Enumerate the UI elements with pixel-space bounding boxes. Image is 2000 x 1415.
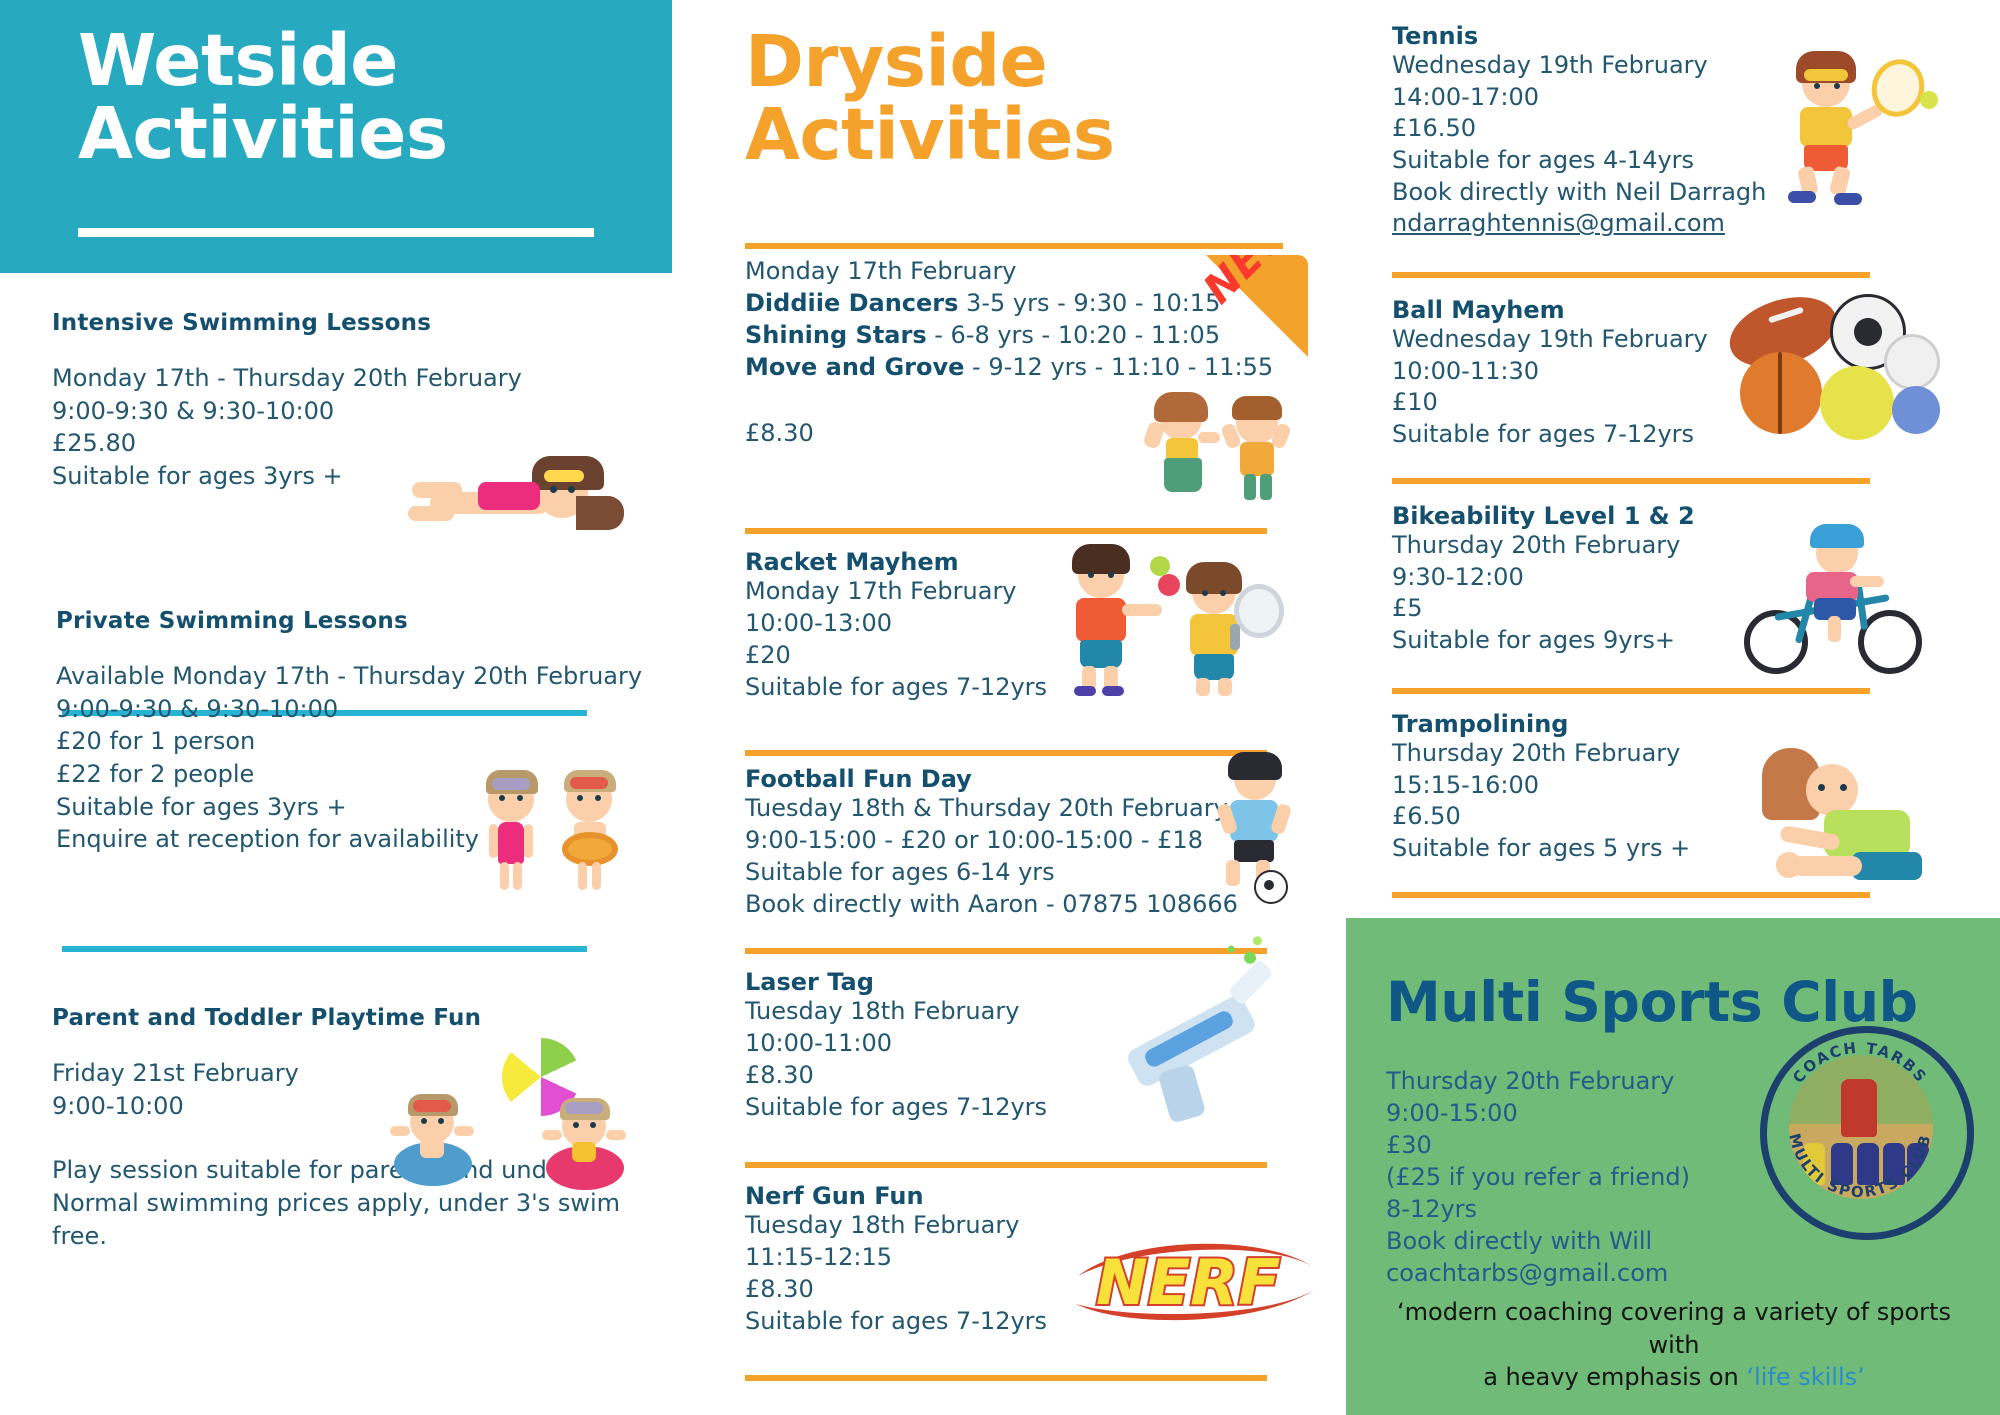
dance-class-name: Move and Grove (745, 353, 964, 381)
badge-top-text: COACH TARBS (1789, 1039, 1931, 1087)
wetside-title-line2: Activities (78, 92, 448, 175)
multi-sports-club-panel: Multi Sports Club Thursday 20th February… (1346, 918, 2000, 1415)
divider-orange-mid-5 (745, 1375, 1267, 1381)
block-line: Wednesday 19th February (1392, 324, 1772, 356)
wetside-header: Wetside Activities (0, 0, 672, 273)
block-line: Thursday 20th February (1392, 530, 1772, 562)
wetside-title: Wetside Activities (78, 24, 448, 170)
multi-sports-quote: ‘modern coaching covering a variety of s… (1374, 1296, 1974, 1394)
divider-orange-right-2 (1392, 478, 1870, 484)
block-line: Thursday 20th February (1392, 738, 1772, 770)
coach-tarbs-badge-icon: COACH TARBS MULTI SPORTS CLUB (1760, 1026, 1974, 1240)
block-title: Intensive Swimming Lessons (52, 310, 672, 336)
multi-sports-line: 9:00-15:00 (1386, 1098, 1518, 1129)
block-tennis: Tennis Wednesday 19th February 14:00-17:… (1392, 22, 1772, 240)
trampolining-child-icon (1752, 748, 1952, 898)
block-line: £16.50 (1392, 113, 1772, 145)
toddlers-beachball-icon (410, 1038, 650, 1198)
nerf-logo-text: NERF (1096, 1246, 1280, 1319)
block-line: 9:00-9:30 & 9:30-10:00 (52, 395, 672, 428)
dryside-title: Dryside Activities (745, 25, 1305, 171)
block-title: Tennis (1392, 22, 1772, 50)
activities-poster: Wetside Activities Intensive Swimming Le… (0, 0, 2000, 1415)
divider-teal-2 (62, 946, 587, 952)
block-title: Ball Mayhem (1392, 296, 1772, 324)
dryside-title-underline (745, 243, 1283, 249)
tennis-email-link[interactable]: ndarraghtennis@gmail.com (1392, 208, 1772, 240)
block-trampolining: Trampolining Thursday 20th February 15:1… (1392, 710, 1772, 865)
block-line: 9:00-9:30 & 9:30-10:00 (56, 693, 676, 726)
block-line: £20 for 1 person (56, 725, 676, 758)
divider-orange-mid-3 (745, 948, 1267, 954)
block-line: 14:00-17:00 (1392, 82, 1772, 114)
cyclist-icon (1742, 530, 1952, 680)
footballer-icon (1200, 752, 1330, 902)
block-line: Suitable for ages 5 yrs + (1392, 833, 1772, 865)
multi-sports-email[interactable]: coachtarbs@gmail.com (1386, 1258, 1668, 1289)
block-line: £6.50 (1392, 801, 1772, 833)
multi-sports-line: (£25 if you refer a friend) (1386, 1162, 1690, 1193)
racket-children-icon (1058, 548, 1308, 698)
dancing-children-icon (1140, 392, 1300, 502)
block-line: £10 (1392, 387, 1772, 419)
divider-orange-right-1 (1392, 272, 1870, 278)
two-children-icon (484, 762, 644, 892)
dryside-header: Dryside Activities (745, 25, 1305, 171)
block-line: Book directly with Neil Darragh (1392, 177, 1772, 209)
block-line: Monday 17th - Thursday 20th February (52, 362, 672, 395)
block-bikeability: Bikeability Level 1 & 2 Thursday 20th Fe… (1392, 502, 1772, 657)
coach-tarbs-badge-text: COACH TARBS MULTI SPORTS CLUB (1767, 1033, 1953, 1219)
block-note-line: free. (52, 1220, 672, 1253)
block-line: 9:30-12:00 (1392, 562, 1772, 594)
divider-orange-mid-4 (745, 1162, 1267, 1168)
divider-orange-right-4 (1392, 892, 1870, 898)
block-line: 15:15-16:00 (1392, 770, 1772, 802)
dryside-title-line2: Activities (745, 93, 1115, 176)
block-line: £5 (1392, 593, 1772, 625)
block-line: Suitable for ages 7-12yrs (1392, 419, 1772, 451)
wetside-title-line1: Wetside (78, 19, 398, 102)
new-badge: NEW (1168, 255, 1308, 395)
wetside-title-underline (78, 228, 594, 237)
dance-class-name: Shining Stars (745, 321, 927, 349)
quote-line1: ‘modern coaching covering a variety of s… (1397, 1298, 1951, 1359)
divider-orange-mid-1 (745, 528, 1267, 534)
multi-sports-title: Multi Sports Club (1386, 970, 1918, 1034)
tennis-player-icon (1760, 55, 1950, 215)
quote-line2-pre: a heavy emphasis on (1483, 1363, 1746, 1391)
sports-balls-icon (1720, 290, 1950, 450)
block-title: Trampolining (1392, 710, 1772, 738)
multi-sports-line: Thursday 20th February (1386, 1066, 1674, 1097)
block-line: Available Monday 17th - Thursday 20th Fe… (56, 660, 676, 693)
multi-sports-line: Book directly with Will (1386, 1226, 1652, 1257)
block-line: Suitable for ages 4-14yrs (1392, 145, 1772, 177)
badge-bottom-text: MULTI SPORTS CLUB (1785, 1132, 1934, 1202)
block-title: Parent and Toddler Playtime Fun (52, 1005, 672, 1031)
block-title: Nerf Gun Fun (745, 1182, 1265, 1210)
divider-orange-right-3 (1392, 688, 1870, 694)
dance-class-name: Diddiie Dancers (745, 289, 958, 317)
block-title: Bikeability Level 1 & 2 (1392, 502, 1772, 530)
nerf-logo-icon: NERF (1070, 1218, 1320, 1328)
divider-orange-mid-2 (745, 750, 1267, 756)
multi-sports-line: 8-12yrs (1386, 1194, 1477, 1225)
block-line: Wednesday 19th February (1392, 50, 1772, 82)
block-line: Suitable for ages 9yrs+ (1392, 625, 1772, 657)
quote-life-skills: ‘life skills’ (1746, 1363, 1864, 1391)
dryside-title-line1: Dryside (745, 20, 1047, 103)
block-title: Private Swimming Lessons (56, 608, 676, 634)
block-ball-mayhem: Ball Mayhem Wednesday 19th February 10:0… (1392, 296, 1772, 451)
block-line: 10:00-11:30 (1392, 356, 1772, 388)
swimmer-girl-icon (408, 452, 638, 542)
multi-sports-line: £30 (1386, 1130, 1432, 1161)
